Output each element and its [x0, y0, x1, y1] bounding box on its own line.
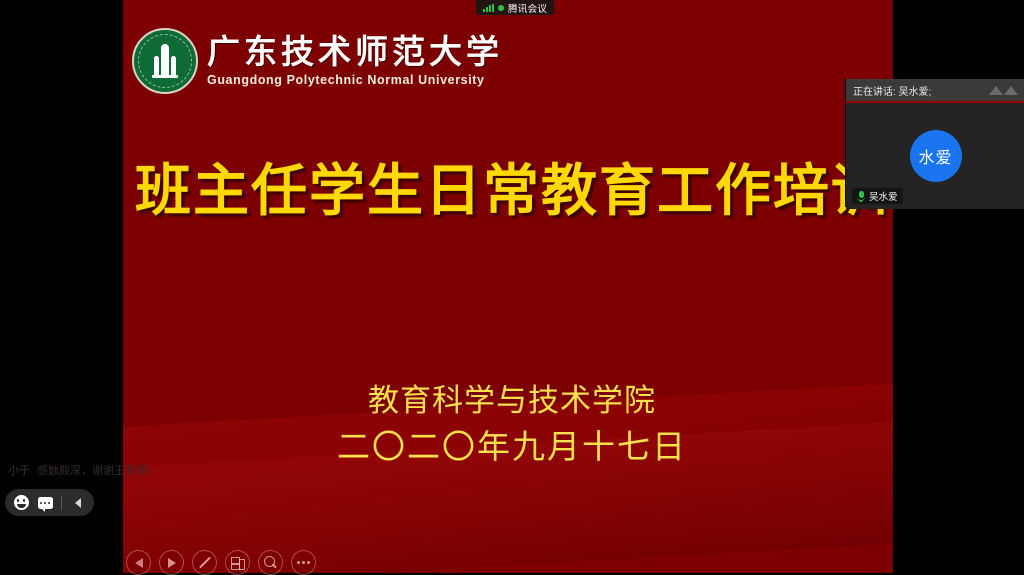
university-name-cn: 广东技术师范大学 — [207, 35, 503, 68]
previous-slide-button[interactable] — [126, 550, 151, 575]
next-slide-button[interactable] — [159, 550, 184, 575]
chat-toolbar[interactable] — [5, 489, 94, 516]
triangle-left-icon — [135, 558, 143, 568]
signal-bars-icon — [483, 4, 494, 12]
pen-icon — [198, 556, 211, 569]
university-emblem-icon — [132, 28, 198, 94]
more-options-button[interactable] — [291, 550, 316, 575]
triangle-right-icon — [168, 558, 176, 568]
ellipsis-icon — [297, 561, 310, 564]
chat-message-text: 感触颇深，谢谢王老师! — [37, 462, 150, 478]
magnifier-icon — [264, 556, 277, 569]
emblem-tower-shape — [152, 44, 178, 78]
chat-message: 小于 感触颇深，谢谢王老师! — [8, 462, 150, 478]
slide-toolbar[interactable] — [126, 550, 316, 575]
collapse-chat-toolbar-button[interactable] — [67, 492, 89, 514]
avatar: 水爱 — [910, 130, 962, 182]
slide-subtitle-date: 二〇二〇年九月十七日 — [0, 420, 1024, 468]
chat-bubble-icon — [38, 497, 53, 509]
university-name-en: Guangdong Polytechnic Normal University — [207, 74, 503, 87]
grid-icon — [231, 557, 244, 569]
zoom-button[interactable] — [258, 550, 283, 575]
chevrons-icon[interactable] — [989, 86, 1018, 95]
microphone-icon — [857, 191, 865, 202]
university-logo: 广东技术师范大学 Guangdong Polytechnic Normal Un… — [132, 28, 503, 94]
speaker-video-tile[interactable]: 水爱 吴水爱 — [846, 101, 1024, 209]
speaker-panel-header[interactable]: 正在讲话: 吴水爱; — [846, 79, 1024, 101]
smiley-icon — [14, 495, 29, 510]
meeting-status-chip[interactable]: 腾讯会议 — [476, 0, 554, 15]
toolbar-divider — [61, 496, 62, 510]
chat-button[interactable] — [34, 492, 56, 514]
annotate-pen-button[interactable] — [192, 550, 217, 575]
university-logo-text: 广东技术师范大学 Guangdong Polytechnic Normal Un… — [207, 35, 503, 87]
slide-layout-button[interactable] — [225, 550, 250, 575]
chat-message-user: 小于 — [8, 462, 30, 478]
emoji-reaction-button[interactable] — [10, 492, 32, 514]
participant-name-label: 吴水爱 — [869, 189, 898, 203]
green-status-dot — [498, 5, 504, 11]
meeting-screen-share-window: 广东技术师范大学 Guangdong Polytechnic Normal Un… — [0, 0, 1024, 573]
speaking-now-label: 正在讲话: 吴水爱; — [853, 83, 931, 98]
chevron-left-icon — [75, 498, 81, 508]
participant-nameplate: 吴水爱 — [852, 188, 903, 204]
app-name-label: 腾讯会议 — [508, 1, 547, 15]
slide-subtitle-department: 教育科学与技术学院 — [0, 375, 1024, 420]
speaker-video-panel[interactable]: 正在讲话: 吴水爱; 水爱 吴水爱 — [845, 79, 1024, 207]
